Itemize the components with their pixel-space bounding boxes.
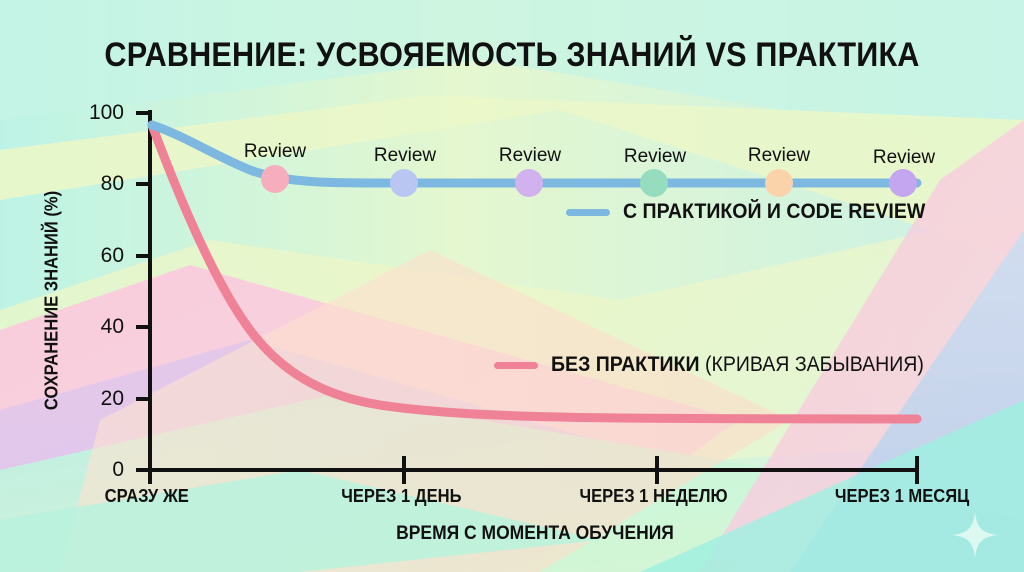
y-tick-label-0: 0 — [60, 458, 124, 482]
review-label-3: Review — [499, 145, 561, 167]
legend-label-practice: С ПРАКТИКОЙ И CODE REVIEW — [623, 200, 925, 224]
x-tick-label-immediately: СРАЗУ ЖЕ — [105, 486, 189, 507]
legend-label-no-practice: БЕЗ ПРАКТИКИ (КРИВАЯ ЗАБЫВАНИЯ) — [551, 353, 924, 377]
legend-label-no-practice-bold: БЕЗ ПРАКТИКИ — [551, 353, 705, 376]
y-tick-label-80: 80 — [60, 172, 124, 196]
x-tick-label-one-day: ЧЕРЕЗ 1 ДЕНЬ — [341, 486, 461, 507]
review-label-5: Review — [748, 145, 810, 167]
review-marker-4[interactable] — [640, 169, 668, 197]
review-label-2: Review — [374, 145, 436, 167]
review-label-1: Review — [244, 141, 306, 163]
page-title: СРАВНЕНИЕ: УСВОЯЕМОСТЬ ЗНАНИЙ VS ПРАКТИК… — [51, 36, 973, 75]
legend-item-practice: С ПРАКТИКОЙ И CODE REVIEW — [566, 200, 948, 224]
sparkle-icon — [952, 512, 998, 558]
review-label-6: Review — [873, 147, 935, 169]
y-tick-label-20: 20 — [60, 387, 124, 411]
x-tick-label-one-month: ЧЕРЕЗ 1 МЕСЯЦ — [835, 486, 969, 507]
chart-canvas: СРАВНЕНИЕ: УСВОЯЕМОСТЬ ЗНАНИЙ VS ПРАКТИК… — [0, 0, 1024, 572]
x-tick-label-one-week: ЧЕРЕЗ 1 НЕДЕЛЮ — [579, 486, 727, 507]
review-marker-1[interactable] — [261, 165, 289, 193]
review-marker-6[interactable] — [889, 169, 917, 197]
legend-swatch-practice — [566, 209, 610, 216]
legend-label-no-practice-light: (КРИВАЯ ЗАБЫВАНИЯ) — [705, 353, 924, 376]
legend-item-no-practice: БЕЗ ПРАКТИКИ (КРИВАЯ ЗАБЫВАНИЯ) — [494, 353, 952, 377]
y-tick-label-60: 60 — [60, 244, 124, 268]
review-marker-3[interactable] — [515, 169, 543, 197]
x-axis-title: ВРЕМЯ С МОМЕНТА ОБУЧЕНИЯ — [181, 523, 889, 545]
legend-swatch-no-practice — [494, 362, 538, 369]
y-tick-label-40: 40 — [60, 315, 124, 339]
y-tick-label-100: 100 — [60, 101, 124, 125]
review-marker-2[interactable] — [390, 169, 418, 197]
review-marker-5[interactable] — [765, 169, 793, 197]
review-label-4: Review — [624, 146, 686, 168]
